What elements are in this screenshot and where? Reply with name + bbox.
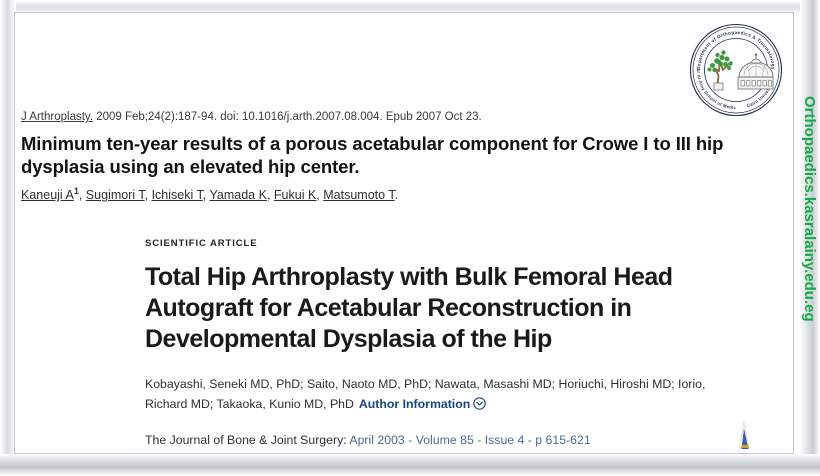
author-entry[interactable]: Kaneuji A1 [21,188,79,202]
page-shadow-bottom [0,454,820,476]
pubmed-author-list: Kaneuji A1, Sugimori T, Ichiseki T, Yama… [21,187,781,204]
jbjs-article-title: Total Hip Arthroplasty with Bulk Femoral… [145,262,705,355]
jbjs-source-line: The Journal of Bone & Joint Surgery: Apr… [145,431,745,449]
author-separator: , [267,188,274,202]
author-separator: , [79,188,86,202]
chevron-down-circle-icon[interactable] [473,396,486,416]
author-separator: . [395,188,398,202]
author-name[interactable]: Ichiseki T [152,188,203,202]
source-journal-name: The Journal of Bone & Joint Surgery: [145,433,347,447]
source-issue-info: April 2003 - Volume 85 - Issue 4 - p 615… [347,433,591,447]
pubmed-citation-line: J Arthroplasty. 2009 Feb;24(2):187-94. d… [21,109,781,125]
author-name[interactable]: Sugimori T [86,188,145,202]
pubmed-article-title: Minimum ten-year results of a porous ace… [21,132,766,178]
document-page: Department of Orthopaedics & Traumatolog… [14,12,794,454]
jbjs-record: SCIENTIFIC ARTICLE Total Hip Arthroplast… [145,238,745,454]
screenshot-root: Department of Orthopaedics & Traumatolog… [0,0,820,476]
jbjs-author-list: Kobayashi, Seneki MD, PhD; Saito, Naoto … [145,374,715,416]
author-separator: , [145,188,152,202]
author-name[interactable]: Matsumoto T [323,188,394,202]
author-information-link[interactable]: Author Information [359,397,486,411]
author-separator: , [203,188,210,202]
pubmed-record: J Arthroplasty. 2009 Feb;24(2):187-94. d… [21,109,781,204]
journal-abbrev-link[interactable]: J Arthroplasty. [21,111,93,123]
department-seal-logo: Department of Orthopaedics & Traumatolog… [687,21,785,119]
citation-details: 2009 Feb;24(2):187-94. doi: 10.1016/j.ar… [93,111,482,123]
corner-graphic-svg [731,419,757,453]
site-url-watermark: Orthopaedics.kasralainy.edu.eg [801,96,818,322]
page-corner-graphic [731,419,757,453]
author-name[interactable]: Fukui K [274,188,316,202]
article-type-kicker: SCIENTIFIC ARTICLE [145,238,745,249]
author-name[interactable]: Yamada K [210,188,267,202]
author-information-label[interactable]: Author Information [359,397,470,411]
seal-svg: Department of Orthopaedics & Traumatolog… [687,21,785,119]
author-name[interactable]: Kaneuji A [21,188,74,202]
